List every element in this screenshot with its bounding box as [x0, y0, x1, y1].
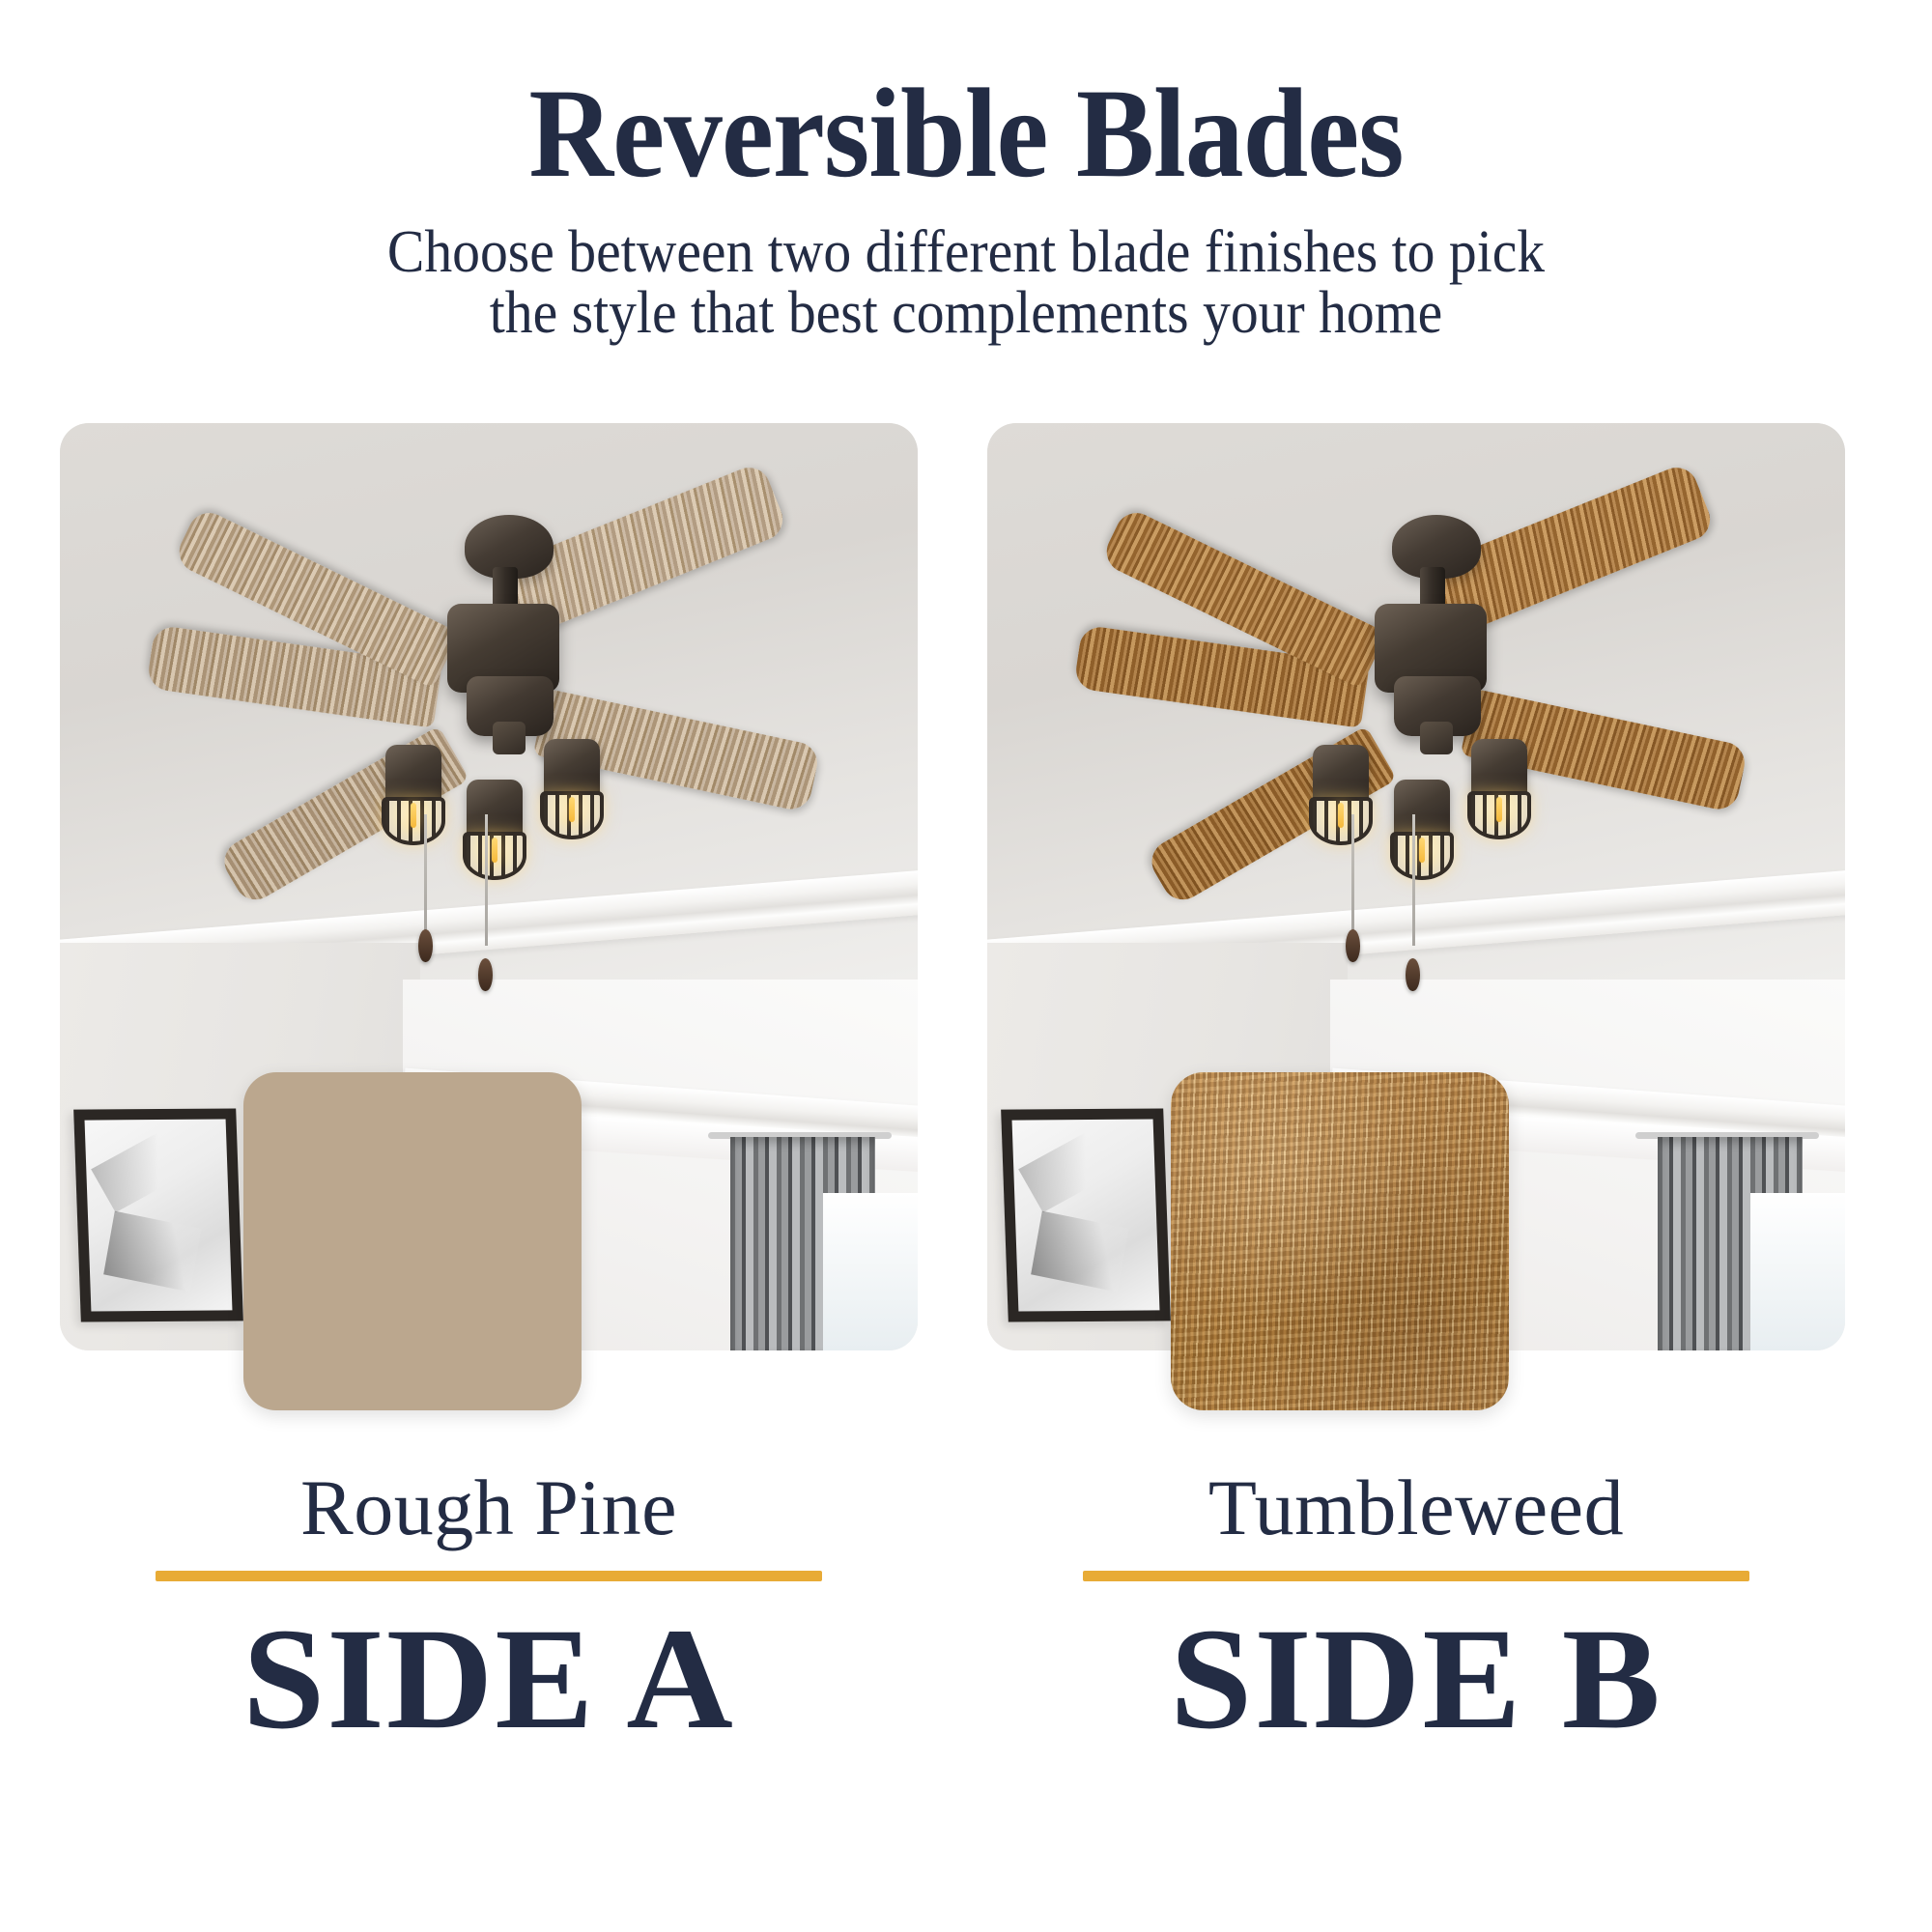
- infographic-page: Reversible Blades Choose between two dif…: [0, 0, 1932, 1932]
- lamp-shade: [1471, 739, 1527, 797]
- caged-light-2: [459, 780, 530, 882]
- subtitle-line-1: Choose between two different blade finis…: [68, 222, 1864, 283]
- panel-side-b[interactable]: [987, 423, 1845, 1350]
- light-kit-stem: [1420, 722, 1453, 754]
- caged-light-3: [536, 739, 608, 841]
- panel-side-a[interactable]: [60, 423, 918, 1350]
- ceiling-fan-side-a: [60, 423, 918, 998]
- pull-chain-bead-2: [1406, 958, 1420, 991]
- gold-divider-side-b: [1083, 1571, 1749, 1581]
- page-title: Reversible Blades: [77, 70, 1855, 197]
- pull-chain-2: [485, 814, 488, 946]
- finish-name-side-a: Rough Pine: [60, 1466, 918, 1549]
- page-subtitle: Choose between two different blade finis…: [68, 222, 1864, 344]
- window-pane: [1750, 1193, 1845, 1350]
- pull-chain-1: [1351, 814, 1354, 930]
- lamp-shade: [385, 745, 441, 803]
- pull-chain-bead-2: [478, 958, 493, 991]
- panels-row: [0, 423, 1932, 1389]
- lamp-shade: [544, 739, 600, 797]
- caption-side-b: Tumbleweed SIDE B: [987, 1466, 1845, 1751]
- subtitle-line-2: the style that best complements your hom…: [68, 283, 1864, 344]
- framed-artwork: [73, 1109, 243, 1322]
- pull-chain-1: [424, 814, 427, 930]
- bulb-filament: [492, 838, 497, 863]
- pull-chain-bead-1: [1346, 929, 1360, 962]
- pull-chain-bead-1: [418, 929, 433, 962]
- rough-pine-swatch: [243, 1072, 582, 1410]
- finish-name-side-b: Tumbleweed: [987, 1466, 1845, 1549]
- gold-divider-side-a: [156, 1571, 822, 1581]
- framed-artwork: [1001, 1109, 1171, 1322]
- lamp-shade: [467, 780, 523, 838]
- bulb-filament: [1419, 838, 1425, 863]
- light-kit-stem: [493, 722, 526, 754]
- lamp-shade: [1313, 745, 1369, 803]
- ceiling-fan-side-b: [987, 423, 1845, 998]
- bulb-filament: [1338, 803, 1344, 828]
- pull-chain-2: [1412, 814, 1415, 946]
- tumbleweed-swatch: [1171, 1072, 1509, 1410]
- header: Reversible Blades Choose between two dif…: [0, 0, 1932, 344]
- caption-side-a: Rough Pine SIDE A: [60, 1466, 918, 1751]
- side-label-a: SIDE A: [51, 1606, 926, 1751]
- caged-light-3: [1463, 739, 1535, 841]
- lamp-shade: [1394, 780, 1450, 838]
- caged-light-1: [1305, 745, 1377, 847]
- side-label-b: SIDE B: [979, 1606, 1854, 1751]
- caged-light-1: [378, 745, 449, 847]
- bulb-filament: [569, 797, 575, 822]
- caged-light-2: [1386, 780, 1458, 882]
- window-pane: [823, 1193, 918, 1350]
- bulb-filament: [411, 803, 416, 828]
- bulb-filament: [1496, 797, 1502, 822]
